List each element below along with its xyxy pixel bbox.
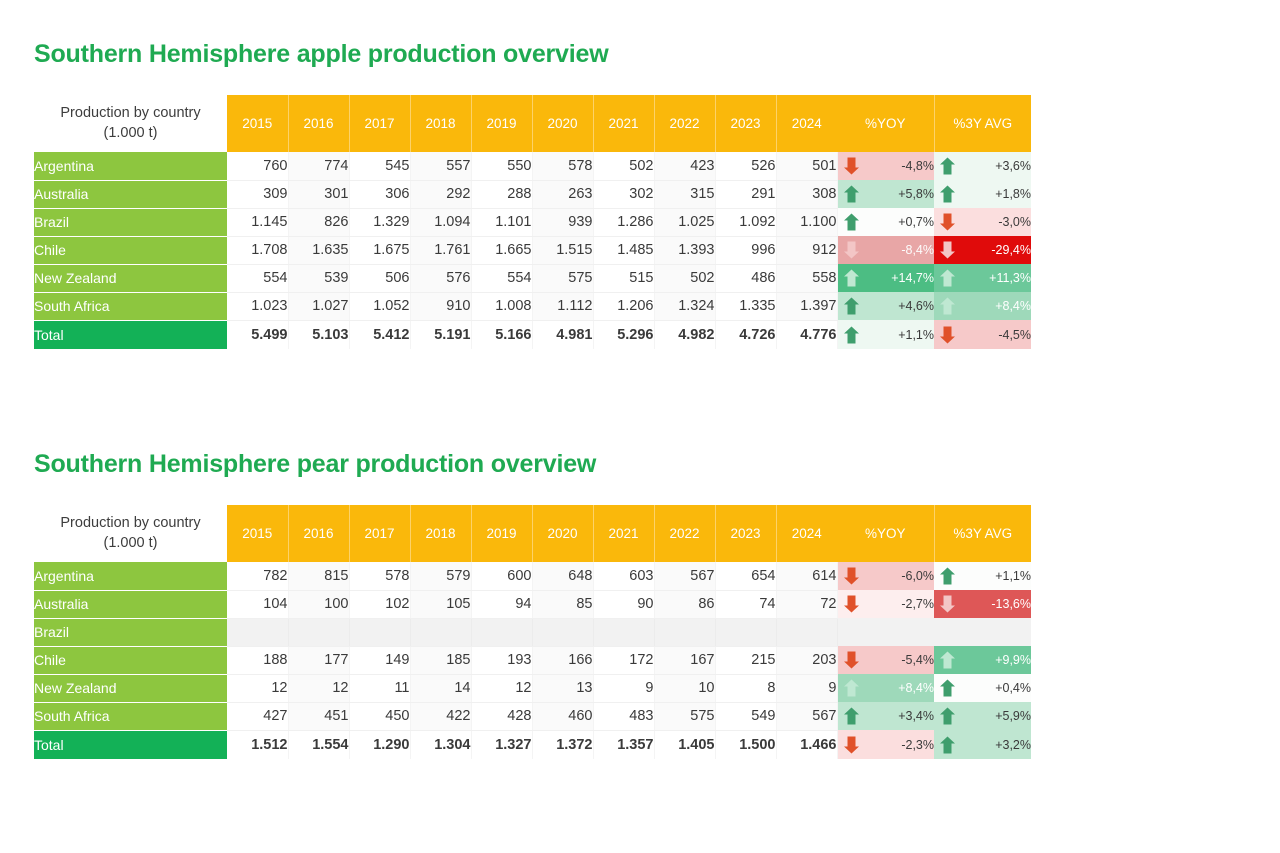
cell-2023: 486 [715, 264, 776, 292]
table-row: South Africa4274514504224284604835755495… [34, 702, 1031, 730]
cell-2020: 1.372 [532, 730, 593, 759]
arrow-down-icon [940, 596, 955, 613]
arrow-up-icon [940, 270, 955, 287]
cell-2024: 558 [776, 264, 837, 292]
column-header-year-2016[interactable]: 2016 [288, 95, 349, 152]
yoy-value: +5,8% [898, 187, 934, 201]
avg3y-value: +8,4% [995, 299, 1031, 313]
table-row: New Zealand55453950657655457551550248655… [34, 264, 1031, 292]
cell-2023: 1.500 [715, 730, 776, 759]
cell-2023: 1.335 [715, 292, 776, 320]
cell-2021: 5.296 [593, 320, 654, 349]
table-row: Chile188177149185193166172167215203-5,4%… [34, 646, 1031, 674]
cell-2024: 1.397 [776, 292, 837, 320]
arrow-up-icon [940, 652, 955, 669]
cell-2022: 4.982 [654, 320, 715, 349]
cell-2024: 308 [776, 180, 837, 208]
arrow-up-icon [940, 186, 955, 203]
cell-2023: 526 [715, 152, 776, 180]
cell-2022 [654, 618, 715, 646]
cell-2015: 782 [227, 562, 288, 590]
cell-2023 [715, 618, 776, 646]
cell-avg3y: -4,5% [934, 320, 1031, 349]
cell-2016 [288, 618, 349, 646]
yoy-value: -2,3% [901, 738, 934, 752]
yoy-value: -5,4% [901, 653, 934, 667]
cell-2019: 600 [471, 562, 532, 590]
cell-2019: 5.166 [471, 320, 532, 349]
cell-yoy: +5,8% [837, 180, 934, 208]
column-header-year-2019[interactable]: 2019 [471, 505, 532, 562]
cell-2015: 104 [227, 590, 288, 618]
cell-2018: 14 [410, 674, 471, 702]
avg3y-value: +5,9% [995, 709, 1031, 723]
cell-2021: 502 [593, 152, 654, 180]
cell-2016: 301 [288, 180, 349, 208]
arrow-up-icon [844, 680, 859, 697]
cell-2019: 428 [471, 702, 532, 730]
cell-2017: 506 [349, 264, 410, 292]
cell-2023: 8 [715, 674, 776, 702]
cell-2021: 515 [593, 264, 654, 292]
arrow-up-icon [940, 158, 955, 175]
row-label-south-africa[interactable]: South Africa [34, 292, 227, 320]
cell-yoy: -4,8% [837, 152, 934, 180]
cell-2016: 826 [288, 208, 349, 236]
table-row: Chile1.7081.6351.6751.7611.6651.5151.485… [34, 236, 1031, 264]
cell-2021: 1.286 [593, 208, 654, 236]
row-label-new-zealand[interactable]: New Zealand [34, 264, 227, 292]
row-label-chile[interactable]: Chile [34, 646, 227, 674]
column-header-avg3y[interactable]: %3Y AVG [934, 95, 1031, 152]
cell-avg3y: -29,4% [934, 236, 1031, 264]
cell-2021: 483 [593, 702, 654, 730]
column-header-year-2015[interactable]: 2015 [227, 505, 288, 562]
yoy-value: +8,4% [898, 681, 934, 695]
cell-2018 [410, 618, 471, 646]
arrow-up-icon [844, 186, 859, 203]
cell-2019: 1.008 [471, 292, 532, 320]
cell-2023: 549 [715, 702, 776, 730]
cell-2021: 1.357 [593, 730, 654, 759]
cell-2018: 557 [410, 152, 471, 180]
column-header-year-2017[interactable]: 2017 [349, 505, 410, 562]
column-header-avg3y[interactable]: %3Y AVG [934, 505, 1031, 562]
cell-2018: 105 [410, 590, 471, 618]
row-label-chile[interactable]: Chile [34, 236, 227, 264]
cell-2017: 1.329 [349, 208, 410, 236]
yoy-value: +3,4% [898, 709, 934, 723]
cell-2015: 12 [227, 674, 288, 702]
cell-2016: 5.103 [288, 320, 349, 349]
arrow-up-icon [844, 214, 859, 231]
table-row: Argentina782815578579600648603567654614-… [34, 562, 1031, 590]
avg3y-value: -13,6% [991, 597, 1031, 611]
production-table-apple: Production by country(1.000 t)2015201620… [34, 95, 1031, 349]
cell-2016: 177 [288, 646, 349, 674]
arrow-down-icon [940, 326, 955, 343]
cell-2020: 575 [532, 264, 593, 292]
column-header-year-2021[interactable]: 2021 [593, 505, 654, 562]
corner-header-line2: (1.000 t) [34, 124, 227, 144]
row-label-australia[interactable]: Australia [34, 180, 227, 208]
cell-2023: 74 [715, 590, 776, 618]
cell-2022: 502 [654, 264, 715, 292]
cell-2022: 315 [654, 180, 715, 208]
cell-2022: 1.324 [654, 292, 715, 320]
cell-2019: 288 [471, 180, 532, 208]
cell-2024: 203 [776, 646, 837, 674]
corner-header-line1: Production by country [34, 104, 227, 124]
cell-2022: 1.405 [654, 730, 715, 759]
arrow-up-icon [940, 736, 955, 753]
cell-2020: 85 [532, 590, 593, 618]
cell-yoy: -2,3% [837, 730, 934, 759]
cell-2021: 1.485 [593, 236, 654, 264]
cell-yoy: +1,1% [837, 320, 934, 349]
arrow-down-icon [844, 158, 859, 175]
arrow-down-icon [844, 568, 859, 585]
cell-2015: 1.145 [227, 208, 288, 236]
column-header-year-2016[interactable]: 2016 [288, 505, 349, 562]
arrow-up-icon [844, 298, 859, 315]
avg3y-value: -3,0% [998, 215, 1031, 229]
avg3y-value: +1,1% [995, 569, 1031, 583]
cell-2023: 996 [715, 236, 776, 264]
column-header-year-2024[interactable]: 2024 [776, 95, 837, 152]
yoy-value: +1,1% [898, 328, 934, 342]
section-pear: Southern Hemisphere pear production over… [34, 450, 1031, 759]
cell-2017: 5.412 [349, 320, 410, 349]
cell-2018: 579 [410, 562, 471, 590]
cell-avg3y: +5,9% [934, 702, 1031, 730]
cell-yoy: -6,0% [837, 562, 934, 590]
cell-2017: 1.675 [349, 236, 410, 264]
table-corner-header: Production by country(1.000 t) [34, 95, 227, 152]
cell-2020: 460 [532, 702, 593, 730]
cell-2016: 815 [288, 562, 349, 590]
cell-2022: 1.025 [654, 208, 715, 236]
cell-2020: 263 [532, 180, 593, 208]
cell-2019: 94 [471, 590, 532, 618]
arrow-down-icon [844, 652, 859, 669]
column-header-yoy[interactable]: %YOY [837, 95, 934, 152]
cell-2017: 1.290 [349, 730, 410, 759]
cell-2022: 10 [654, 674, 715, 702]
cell-2017 [349, 618, 410, 646]
avg3y-value: +0,4% [995, 681, 1031, 695]
cell-2016: 1.635 [288, 236, 349, 264]
cell-avg3y: +8,4% [934, 292, 1031, 320]
table-row: Total1.5121.5541.2901.3041.3271.3721.357… [34, 730, 1031, 759]
cell-2018: 576 [410, 264, 471, 292]
yoy-value: -8,4% [901, 243, 934, 257]
row-label-total[interactable]: Total [34, 320, 227, 349]
column-header-year-2018[interactable]: 2018 [410, 95, 471, 152]
column-header-year-2022[interactable]: 2022 [654, 505, 715, 562]
cell-2024 [776, 618, 837, 646]
cell-2019: 12 [471, 674, 532, 702]
avg3y-value: +11,3% [989, 271, 1031, 285]
cell-avg3y [934, 618, 1031, 646]
cell-avg3y: -13,6% [934, 590, 1031, 618]
table-row: Argentina760774545557550578502423526501-… [34, 152, 1031, 180]
cell-2019: 554 [471, 264, 532, 292]
page-title-pear: Southern Hemisphere pear production over… [34, 450, 1031, 479]
cell-2019: 1.101 [471, 208, 532, 236]
avg3y-value: -4,5% [998, 328, 1031, 342]
table-container-apple: Production by country(1.000 t)2015201620… [34, 95, 1031, 349]
cell-2016: 451 [288, 702, 349, 730]
cell-2024: 72 [776, 590, 837, 618]
cell-2020: 1.112 [532, 292, 593, 320]
cell-2021: 603 [593, 562, 654, 590]
cell-2020: 13 [532, 674, 593, 702]
cell-yoy: +8,4% [837, 674, 934, 702]
cell-2021: 90 [593, 590, 654, 618]
cell-2021: 172 [593, 646, 654, 674]
column-header-year-2024[interactable]: 2024 [776, 505, 837, 562]
row-label-new-zealand[interactable]: New Zealand [34, 674, 227, 702]
column-header-year-2017[interactable]: 2017 [349, 95, 410, 152]
cell-2024: 4.776 [776, 320, 837, 349]
cell-yoy: +0,7% [837, 208, 934, 236]
cell-2024: 567 [776, 702, 837, 730]
cell-2017: 545 [349, 152, 410, 180]
cell-2016: 12 [288, 674, 349, 702]
column-header-year-2018[interactable]: 2018 [410, 505, 471, 562]
cell-2015: 427 [227, 702, 288, 730]
row-label-brazil[interactable]: Brazil [34, 208, 227, 236]
arrow-up-icon [844, 708, 859, 725]
cell-2020: 4.981 [532, 320, 593, 349]
cell-2021: 302 [593, 180, 654, 208]
cell-2017: 306 [349, 180, 410, 208]
cell-2021 [593, 618, 654, 646]
table-row: South Africa1.0231.0271.0529101.0081.112… [34, 292, 1031, 320]
row-label-australia[interactable]: Australia [34, 590, 227, 618]
cell-2022: 1.393 [654, 236, 715, 264]
cell-2015: 1.708 [227, 236, 288, 264]
cell-2022: 575 [654, 702, 715, 730]
cell-2022: 167 [654, 646, 715, 674]
arrow-down-icon [940, 214, 955, 231]
cell-2024: 1.100 [776, 208, 837, 236]
table-row: Australia309301306292288263302315291308+… [34, 180, 1031, 208]
cell-avg3y: +3,6% [934, 152, 1031, 180]
table-row: Total5.4995.1035.4125.1915.1664.9815.296… [34, 320, 1031, 349]
column-header-year-2022[interactable]: 2022 [654, 95, 715, 152]
cell-2015: 1.023 [227, 292, 288, 320]
cell-2019: 1.665 [471, 236, 532, 264]
cell-2020 [532, 618, 593, 646]
cell-2015: 309 [227, 180, 288, 208]
row-label-argentina[interactable]: Argentina [34, 152, 227, 180]
cell-2017: 450 [349, 702, 410, 730]
cell-2016: 774 [288, 152, 349, 180]
cell-2022: 423 [654, 152, 715, 180]
cell-2020: 166 [532, 646, 593, 674]
arrow-down-icon [940, 242, 955, 259]
arrow-up-icon [940, 568, 955, 585]
cell-2018: 5.191 [410, 320, 471, 349]
cell-2023: 291 [715, 180, 776, 208]
cell-avg3y: +1,1% [934, 562, 1031, 590]
cell-2015 [227, 618, 288, 646]
column-header-yoy[interactable]: %YOY [837, 505, 934, 562]
cell-2018: 292 [410, 180, 471, 208]
cell-2019: 193 [471, 646, 532, 674]
cell-2023: 4.726 [715, 320, 776, 349]
page-root: Southern Hemisphere apple production ove… [0, 0, 1280, 853]
yoy-value: -6,0% [901, 569, 934, 583]
table-header-row: Production by country(1.000 t)2015201620… [34, 505, 1031, 562]
cell-2016: 100 [288, 590, 349, 618]
cell-avg3y: +9,9% [934, 646, 1031, 674]
arrow-up-icon [844, 270, 859, 287]
arrow-down-icon [844, 736, 859, 753]
cell-2015: 1.512 [227, 730, 288, 759]
cell-2024: 501 [776, 152, 837, 180]
cell-avg3y: +1,8% [934, 180, 1031, 208]
cell-2021: 9 [593, 674, 654, 702]
page-title-apple: Southern Hemisphere apple production ove… [34, 40, 1031, 69]
section-apple: Southern Hemisphere apple production ove… [34, 40, 1031, 349]
cell-2018: 910 [410, 292, 471, 320]
cell-2022: 86 [654, 590, 715, 618]
column-header-year-2020[interactable]: 2020 [532, 95, 593, 152]
cell-2015: 188 [227, 646, 288, 674]
cell-2015: 760 [227, 152, 288, 180]
row-label-south-africa[interactable]: South Africa [34, 702, 227, 730]
cell-2020: 578 [532, 152, 593, 180]
yoy-value: -4,8% [901, 159, 934, 173]
table-row: Brazil [34, 618, 1031, 646]
yoy-value: +14,7% [891, 271, 934, 285]
cell-avg3y: +11,3% [934, 264, 1031, 292]
cell-2023: 1.092 [715, 208, 776, 236]
cell-yoy [837, 618, 934, 646]
column-header-year-2023[interactable]: 2023 [715, 95, 776, 152]
cell-2016: 1.554 [288, 730, 349, 759]
cell-2017: 149 [349, 646, 410, 674]
cell-avg3y: -3,0% [934, 208, 1031, 236]
cell-2015: 554 [227, 264, 288, 292]
cell-yoy: +14,7% [837, 264, 934, 292]
table-container-pear: Production by country(1.000 t)2015201620… [34, 505, 1031, 759]
cell-2017: 11 [349, 674, 410, 702]
avg3y-value: -29,4% [991, 243, 1031, 257]
cell-yoy: -8,4% [837, 236, 934, 264]
cell-2023: 654 [715, 562, 776, 590]
column-header-year-2015[interactable]: 2015 [227, 95, 288, 152]
arrow-down-icon [844, 596, 859, 613]
cell-2017: 102 [349, 590, 410, 618]
cell-2016: 1.027 [288, 292, 349, 320]
cell-2024: 1.466 [776, 730, 837, 759]
table-row: New Zealand12121114121391089+8,4%+0,4% [34, 674, 1031, 702]
cell-2018: 185 [410, 646, 471, 674]
cell-2024: 9 [776, 674, 837, 702]
arrow-up-icon [940, 298, 955, 315]
cell-yoy: +3,4% [837, 702, 934, 730]
cell-2024: 912 [776, 236, 837, 264]
cell-2020: 648 [532, 562, 593, 590]
yoy-value: +0,7% [898, 215, 934, 229]
yoy-value: -2,7% [901, 597, 934, 611]
row-label-brazil[interactable]: Brazil [34, 618, 227, 646]
cell-2018: 422 [410, 702, 471, 730]
cell-2017: 578 [349, 562, 410, 590]
column-header-year-2020[interactable]: 2020 [532, 505, 593, 562]
column-header-year-2019[interactable]: 2019 [471, 95, 532, 152]
cell-avg3y: +0,4% [934, 674, 1031, 702]
cell-2019: 1.327 [471, 730, 532, 759]
row-label-total[interactable]: Total [34, 730, 227, 759]
yoy-value: +4,6% [898, 299, 934, 313]
cell-2024: 614 [776, 562, 837, 590]
cell-2017: 1.052 [349, 292, 410, 320]
cell-2020: 1.515 [532, 236, 593, 264]
avg3y-value: +3,6% [995, 159, 1031, 173]
cell-2022: 567 [654, 562, 715, 590]
table-row: Australia104100102105948590867472-2,7%-1… [34, 590, 1031, 618]
cell-avg3y: +3,2% [934, 730, 1031, 759]
cell-yoy: +4,6% [837, 292, 934, 320]
row-label-argentina[interactable]: Argentina [34, 562, 227, 590]
avg3y-value: +9,9% [995, 653, 1031, 667]
corner-header-line1: Production by country [34, 514, 227, 534]
cell-2015: 5.499 [227, 320, 288, 349]
avg3y-value: +1,8% [995, 187, 1031, 201]
arrow-up-icon [940, 708, 955, 725]
arrow-down-icon [844, 242, 859, 259]
avg3y-value: +3,2% [995, 738, 1031, 752]
cell-2023: 215 [715, 646, 776, 674]
cell-2018: 1.304 [410, 730, 471, 759]
table-row: Brazil1.1458261.3291.0941.1019391.2861.0… [34, 208, 1031, 236]
cell-yoy: -5,4% [837, 646, 934, 674]
corner-header-line2: (1.000 t) [34, 534, 227, 554]
cell-2019 [471, 618, 532, 646]
cell-2019: 550 [471, 152, 532, 180]
cell-yoy: -2,7% [837, 590, 934, 618]
cell-2021: 1.206 [593, 292, 654, 320]
column-header-year-2021[interactable]: 2021 [593, 95, 654, 152]
cell-2020: 939 [532, 208, 593, 236]
production-table-pear: Production by country(1.000 t)2015201620… [34, 505, 1031, 759]
arrow-up-icon [940, 680, 955, 697]
column-header-year-2023[interactable]: 2023 [715, 505, 776, 562]
table-corner-header: Production by country(1.000 t) [34, 505, 227, 562]
cell-2018: 1.094 [410, 208, 471, 236]
table-header-row: Production by country(1.000 t)2015201620… [34, 95, 1031, 152]
arrow-up-icon [844, 326, 859, 343]
cell-2018: 1.761 [410, 236, 471, 264]
cell-2016: 539 [288, 264, 349, 292]
